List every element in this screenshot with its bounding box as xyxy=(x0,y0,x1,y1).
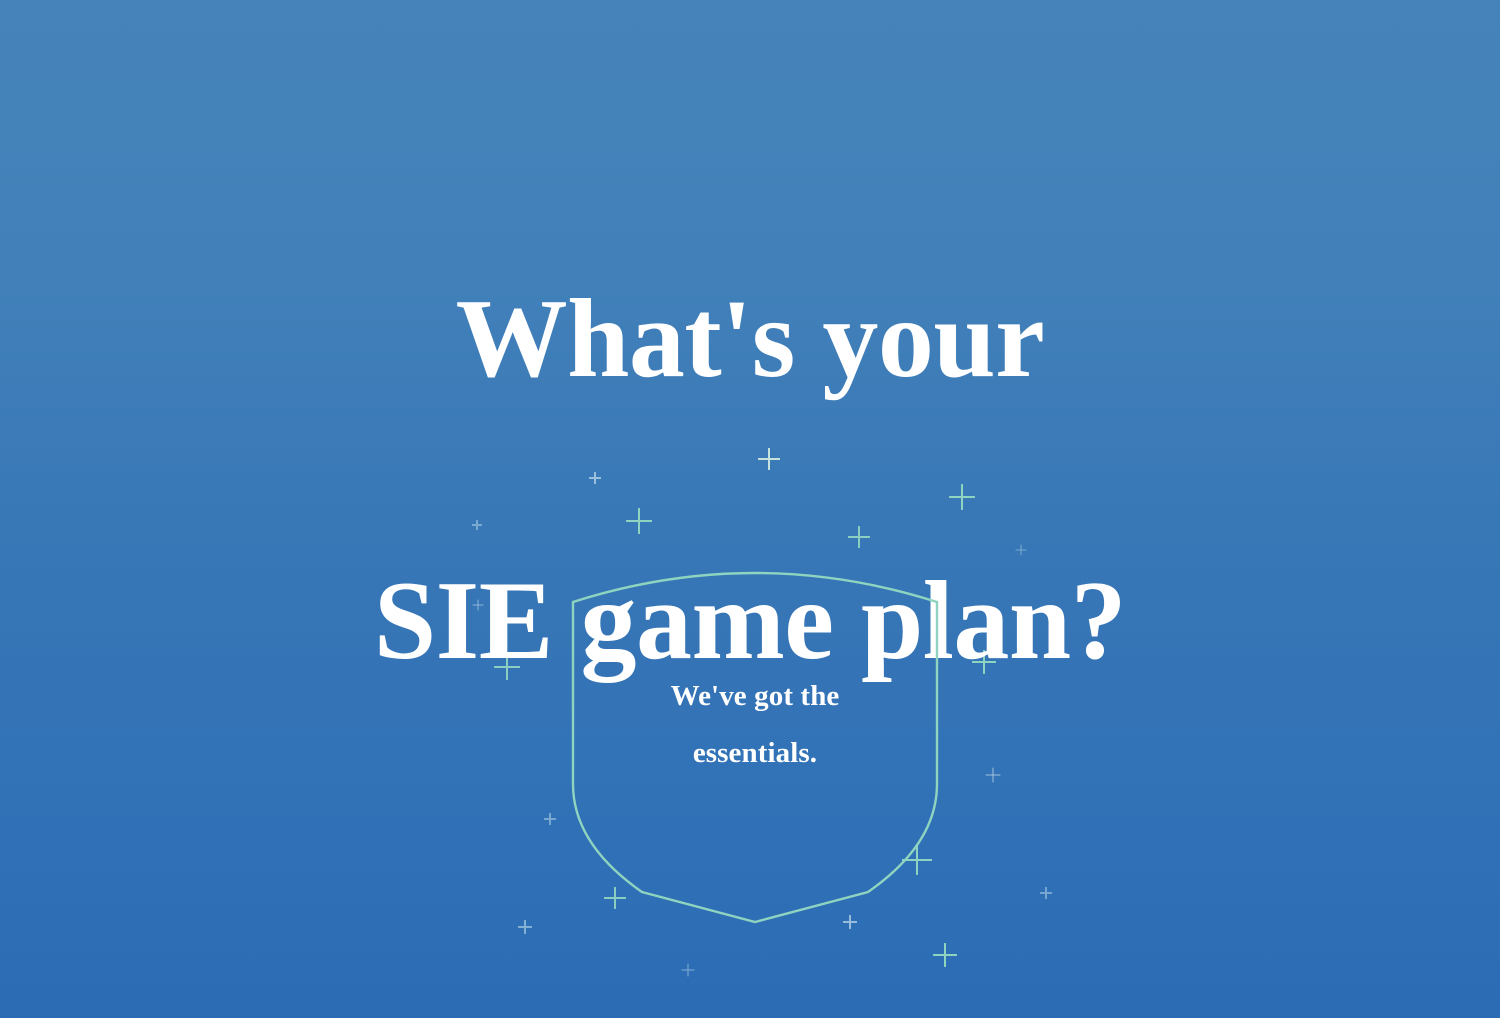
plus-sparkle-icon xyxy=(518,920,532,934)
headline-line-1: What's your xyxy=(0,269,1500,410)
shield-caption-line-2: essentials. xyxy=(560,725,950,782)
plus-sparkle-icon xyxy=(682,964,695,977)
promo-canvas: What's your SIE game plan? We've got the… xyxy=(0,0,1500,1018)
shield-badge: We've got the essentials. xyxy=(560,552,950,942)
plus-sparkle-icon xyxy=(1040,887,1052,899)
shield-caption: We've got the essentials. xyxy=(560,668,950,781)
shield-caption-line-1: We've got the xyxy=(560,668,950,725)
plus-sparkle-icon xyxy=(933,943,957,967)
